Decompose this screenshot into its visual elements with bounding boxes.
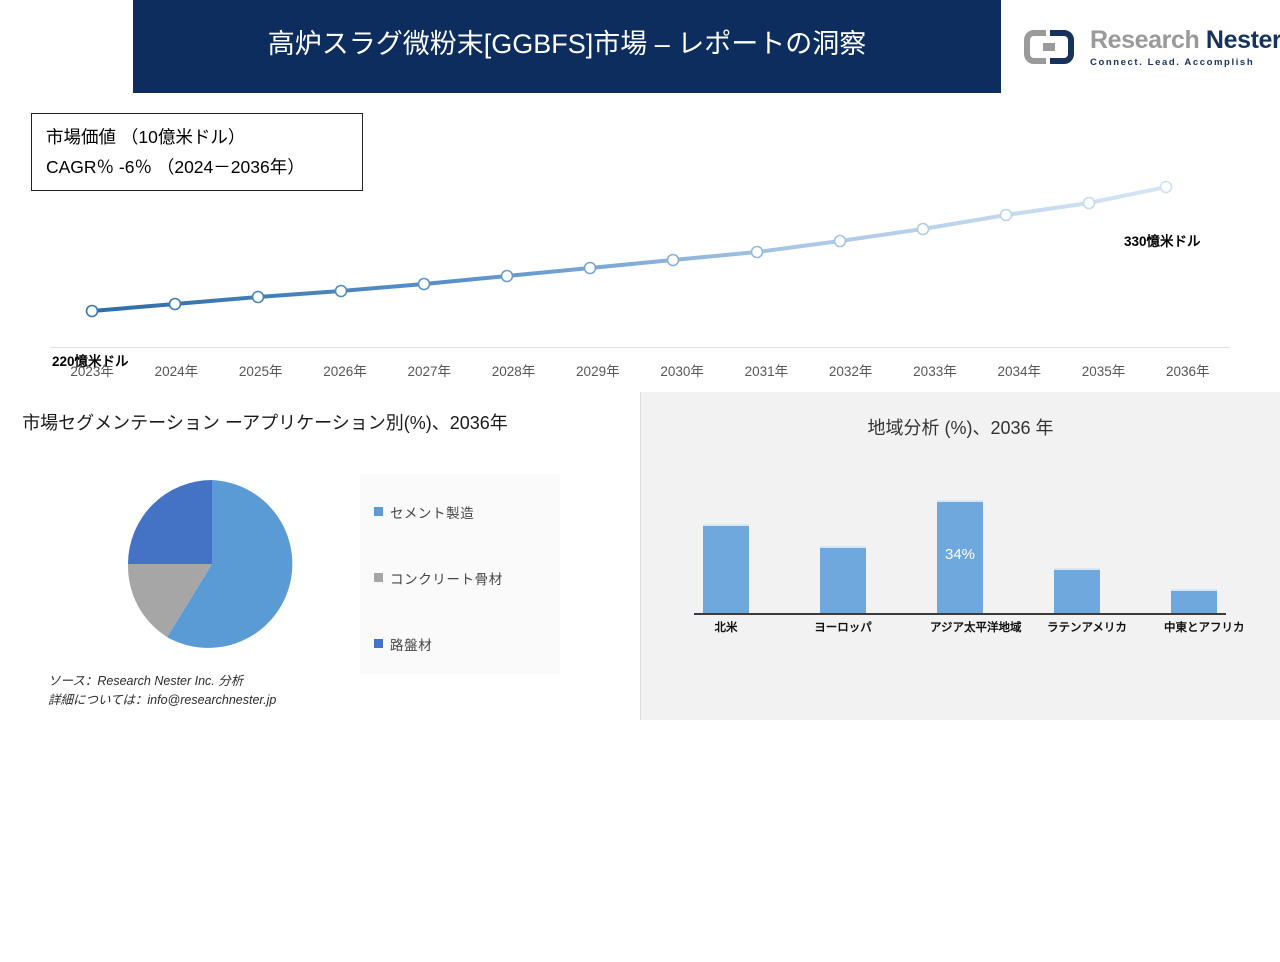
x-tick-2028: 2028年 [471,360,555,384]
bar-europe [820,546,866,613]
x-tick-2025: 2025年 [219,360,303,384]
bar-label-latin-america: ラテンアメリカ [1047,619,1107,641]
source-line-1: ソース：Research Nester Inc. 分析 [48,672,276,691]
x-axis-line [50,347,1230,348]
x-tick-2027: 2027年 [387,360,471,384]
logo-word-research: Research [1090,26,1199,54]
line-chart-svg [0,95,1280,390]
bar-chart-baseline [694,613,1226,615]
bar-chart-category-labels: 北米 ヨーロッパ アジア太平洋地域 ラテンアメリカ 中東とアフリカ [696,619,1224,641]
regional-analysis-title: 地域分析 (%)、2036 年 [641,414,1280,440]
header-banner: 高炉スラグ微粉末[GGBFS]市場 – レポートの洞察 [133,0,1001,93]
regional-bar-chart: 34% [696,458,1224,613]
logo-wordmark: Research Nester [1090,28,1280,53]
x-tick-2030: 2030年 [640,360,724,384]
segmentation-title: 市場セグメンテーション ーアプリケーション別(%)、2036年 [20,410,510,436]
bar-label-europe: ヨーロッパ [813,619,873,641]
pie-slice-roadbase [128,480,212,564]
x-tick-2024: 2024年 [134,360,218,384]
legend-swatch-icon-aggregate [374,573,383,582]
legend-swatch-icon-cement [374,507,383,516]
brand-logo: Research Nester Connect. Lead. Accomplis… [1024,16,1264,78]
legend-swatch-icon-roadbase [374,639,383,648]
bar-column-europe [813,546,873,613]
legend-item-roadbase: 路盤材 [374,620,560,667]
x-tick-2031: 2031年 [724,360,808,384]
bar-middle-east-africa [1171,589,1217,613]
logo-text: Research Nester Connect. Lead. Accomplis… [1090,26,1280,68]
bar-column-asia-pacific: 34% [930,500,990,613]
line-series-path [92,187,1166,311]
end-value-label: 330憶米ドル [1124,230,1201,250]
page-title: 高炉スラグ微粉末[GGBFS]市場 – レポートの洞察 [268,26,867,63]
bar-label-asia-pacific: アジア太平洋地域 [930,619,990,641]
bar-value-label-asia-pacific: 34% [937,546,983,563]
pie-svg [126,478,298,650]
bar-label-middle-east-africa: 中東とアフリカ [1164,619,1224,641]
x-tick-2032: 2032年 [809,360,893,384]
legend-item-aggregate: コンクリート骨材 [374,554,560,601]
legend-label-cement: セメント製造 [390,502,474,522]
x-axis-tick-labels: 2023年 2024年 2025年 2026年 2027年 2028年 2029… [50,360,1230,384]
market-value-line-chart: 220憶米ドル 330憶米ドル [0,95,1280,390]
link-chain-logo-icon [1024,30,1080,64]
legend-label-aggregate: コンクリート骨材 [390,568,503,588]
logo-tagline: Connect. Lead. Accomplish [1090,58,1280,68]
x-tick-2034: 2034年 [977,360,1061,384]
segmentation-legend: セメント製造 コンクリート骨材 路盤材 [360,474,560,674]
legend-item-cement: セメント製造 [374,488,560,535]
bar-column-latin-america [1047,568,1107,613]
regional-analysis-panel: 地域分析 (%)、2036 年 34% 北米 ヨーロッパ アジア太平洋地域 ラテ… [640,392,1280,720]
legend-label-roadbase: 路盤材 [390,634,432,654]
bar-column-north-america [696,524,756,613]
x-tick-2023: 2023年 [50,360,134,384]
bar-north-america [703,524,749,613]
x-tick-2035: 2035年 [1061,360,1145,384]
x-tick-2029: 2029年 [556,360,640,384]
x-tick-2036: 2036年 [1146,360,1230,384]
segmentation-panel: 市場セグメンテーション ーアプリケーション別(%)、2036年 59% セメント… [0,392,633,720]
x-tick-2033: 2033年 [893,360,977,384]
segmentation-pie-chart [126,478,298,650]
bar-latin-america [1054,568,1100,613]
x-tick-2026: 2026年 [303,360,387,384]
logo-word-nester: Nester [1206,26,1280,54]
pie-slice-value-label: 59% [212,940,250,962]
source-line-2: 詳細については：info@researchnester.jp [48,691,276,710]
bar-column-middle-east-africa [1164,589,1224,613]
bar-label-north-america: 北米 [696,619,756,641]
bar-asia-pacific: 34% [937,500,983,613]
source-note: ソース：Research Nester Inc. 分析 詳細については：info… [48,672,276,711]
